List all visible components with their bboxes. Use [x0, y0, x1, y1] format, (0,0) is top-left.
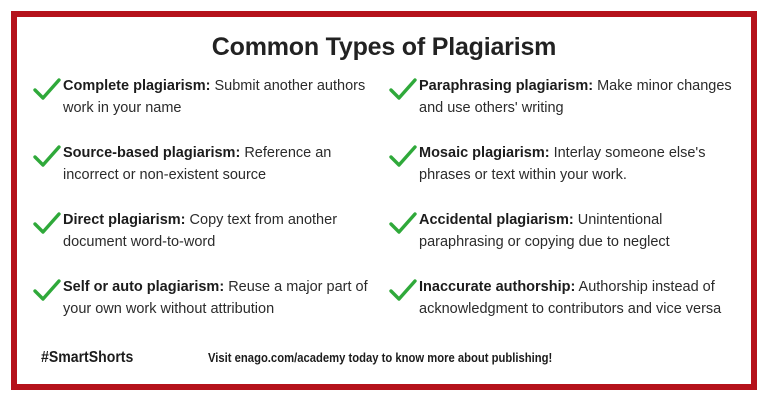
list-item: Complete plagiarism: Submit another auth… [31, 74, 377, 141]
check-icon [387, 211, 419, 237]
check-icon [31, 144, 63, 170]
list-item-term: Self or auto plagiarism: [63, 279, 224, 295]
list-item-term: Inaccurate authorship: [419, 279, 575, 295]
infographic-card: Common Types of Plagiarism Complete plag… [11, 11, 757, 390]
check-icon [387, 278, 419, 304]
list-item-text: Inaccurate authorship: Authorship instea… [419, 275, 751, 320]
check-icon [31, 211, 63, 237]
list-item-term: Source-based plagiarism: [63, 145, 240, 161]
check-icon [387, 77, 419, 103]
check-icon [387, 144, 419, 170]
types-columns: Complete plagiarism: Submit another auth… [17, 62, 751, 342]
list-item-text: Paraphrasing plagiarism: Make minor chan… [419, 74, 751, 119]
list-item-term: Mosaic plagiarism: [419, 145, 550, 161]
page-title: Common Types of Plagiarism [17, 17, 751, 62]
list-item-text: Direct plagiarism: Copy text from anothe… [63, 208, 377, 253]
list-item: Inaccurate authorship: Authorship instea… [387, 275, 751, 342]
check-icon [31, 278, 63, 304]
list-item-text: Accidental plagiarism: Unintentional par… [419, 208, 751, 253]
list-item: Paraphrasing plagiarism: Make minor chan… [387, 74, 751, 141]
check-icon [31, 77, 63, 103]
footer-tagline: Visit enago.com/academy today to know mo… [208, 351, 552, 365]
list-item: Direct plagiarism: Copy text from anothe… [31, 208, 377, 275]
list-item-text: Mosaic plagiarism: Interlay someone else… [419, 141, 751, 186]
right-column: Paraphrasing plagiarism: Make minor chan… [377, 74, 751, 342]
footer-hashtag: #SmartShorts [41, 349, 133, 367]
list-item-term: Direct plagiarism: [63, 212, 186, 228]
list-item-text: Self or auto plagiarism: Reuse a major p… [63, 275, 377, 320]
list-item: Accidental plagiarism: Unintentional par… [387, 208, 751, 275]
footer: #SmartShorts Visit enago.com/academy tod… [17, 346, 751, 370]
list-item-term: Complete plagiarism: [63, 78, 210, 94]
list-item: Mosaic plagiarism: Interlay someone else… [387, 141, 751, 208]
list-item-term: Paraphrasing plagiarism: [419, 78, 593, 94]
list-item-term: Accidental plagiarism: [419, 212, 574, 228]
left-column: Complete plagiarism: Submit another auth… [17, 74, 377, 342]
list-item: Self or auto plagiarism: Reuse a major p… [31, 275, 377, 342]
list-item: Source-based plagiarism: Reference an in… [31, 141, 377, 208]
card-inner: Common Types of Plagiarism Complete plag… [17, 17, 751, 384]
list-item-text: Source-based plagiarism: Reference an in… [63, 141, 377, 186]
list-item-text: Complete plagiarism: Submit another auth… [63, 74, 377, 119]
